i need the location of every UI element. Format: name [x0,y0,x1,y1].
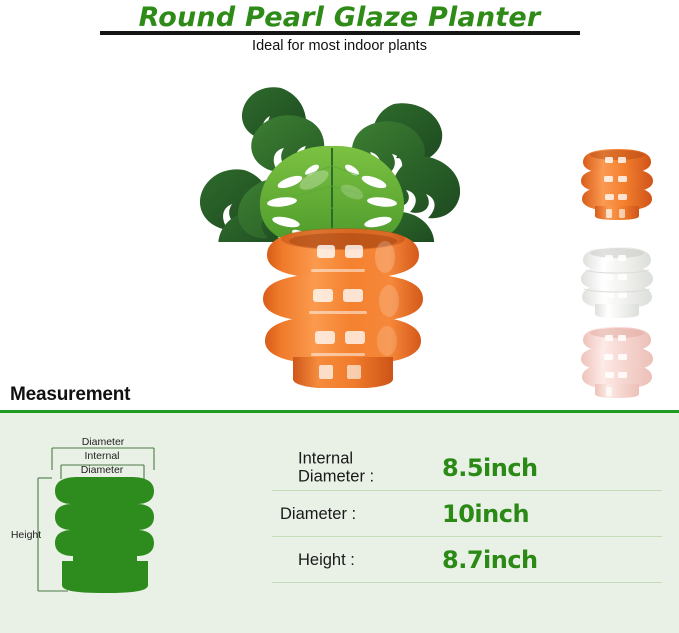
orange-planter [253,223,433,388]
diagram-label-internal-2: Diameter [81,464,124,476]
header-banner: Round Pearl Glaze Planter Ideal for most… [0,0,679,58]
variant-thumbnail-orange[interactable] [577,148,657,220]
diagram-label-height: Height [11,529,41,541]
specification-table: Internal Diameter : 8.5inch Diameter : 1… [272,445,662,583]
pot-silhouette [55,477,154,593]
diagram-label-diameter: Diameter [82,436,125,448]
spec-label-height: Height : [298,550,355,568]
diagram-label-internal-1: Internal [84,450,119,462]
table-row: Diameter : 10inch [272,491,662,537]
spec-value-diameter: 10inch [442,500,529,528]
page-title: Round Pearl Glaze Planter [0,2,679,33]
spec-label-internal-diameter: Internal Diameter : [298,449,374,486]
measurement-heading: Measurement [10,384,130,406]
title-underline [100,31,580,35]
spec-label-line2: Diameter : [298,468,374,486]
spec-label-diameter: Diameter : [280,504,356,522]
variant-thumbnail-white[interactable] [577,246,657,318]
table-row: Internal Diameter : 8.5inch [272,445,662,491]
page-subtitle: Ideal for most indoor plants [0,38,679,54]
table-row: Height : 8.7inch [272,537,662,583]
variant-thumbnail-pink[interactable] [577,326,657,398]
measurement-diagram: Diameter Internal Diameter Height [6,421,256,626]
spec-value-height: 8.7inch [442,546,538,574]
hero-product-section [0,58,679,380]
spec-value-internal-diameter: 8.5inch [442,454,538,482]
monstera-plant [186,62,476,242]
measurement-panel: Diameter Internal Diameter Height Intern… [0,413,679,633]
spec-label-line1: Internal [298,449,353,467]
